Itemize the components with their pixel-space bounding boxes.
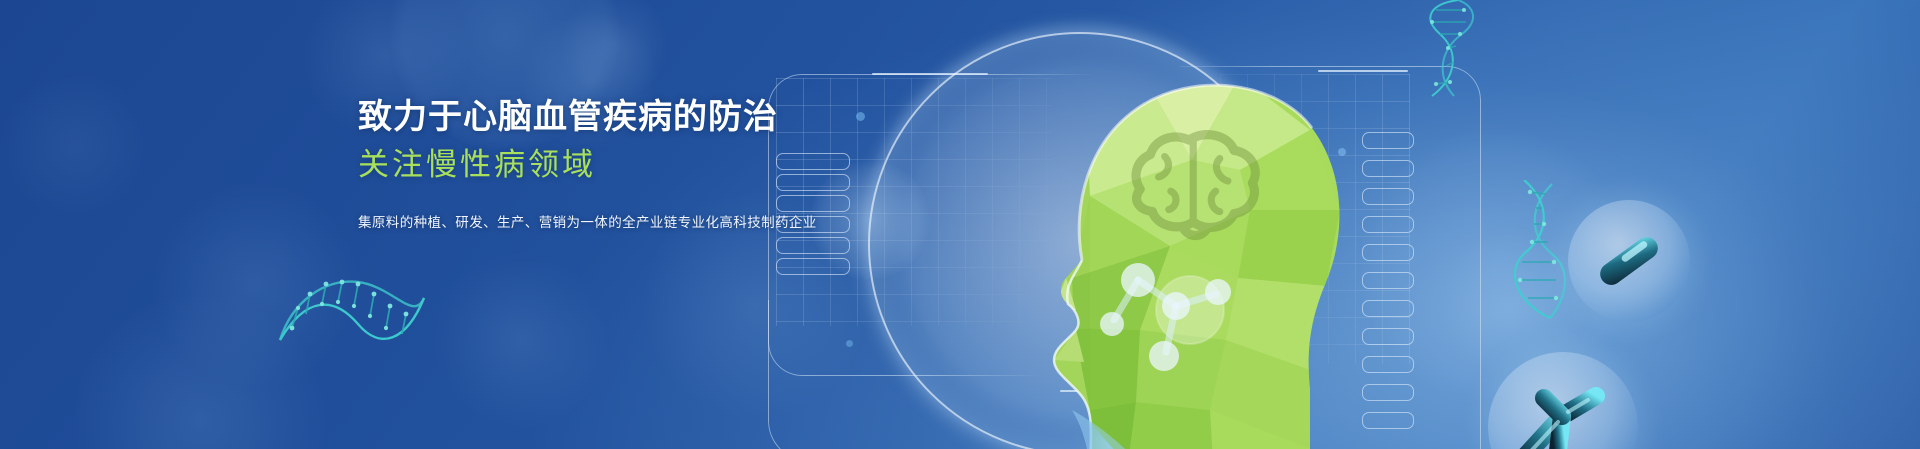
hud-bar — [776, 237, 850, 254]
headline: 致力于心脑血管疾病的防治 — [358, 95, 788, 139]
hero-banner: 致力于心脑血管疾病的防治 关注慢性病领域 集原料的种植、研发、生产、营销为一体的… — [0, 0, 1920, 449]
description: 集原料的种植、研发、生产、营销为一体的全产业链专业化高科技制药企业 — [358, 211, 788, 231]
cell-bacteria-y — [1488, 352, 1638, 449]
head-polygon-svg — [840, 10, 1400, 449]
bokeh-circle — [0, 70, 150, 220]
bacteria-y-icon — [1488, 352, 1638, 449]
bacteria-rod-icon — [1568, 200, 1690, 322]
bokeh-circle — [560, 0, 670, 100]
dna-helix-left — [272, 262, 432, 352]
subheadline: 关注慢性病领域 — [358, 143, 788, 186]
bokeh-circle — [150, 180, 360, 390]
banner-copy: 致力于心脑血管疾病的防治 关注慢性病领域 集原料的种植、研发、生产、营销为一体的… — [358, 95, 788, 231]
bokeh-circle — [70, 290, 330, 449]
cell-bacteria-rod — [1568, 200, 1690, 322]
low-poly-human-head — [840, 10, 1400, 449]
bokeh-circle — [430, 250, 610, 430]
hud-bar — [776, 258, 850, 275]
